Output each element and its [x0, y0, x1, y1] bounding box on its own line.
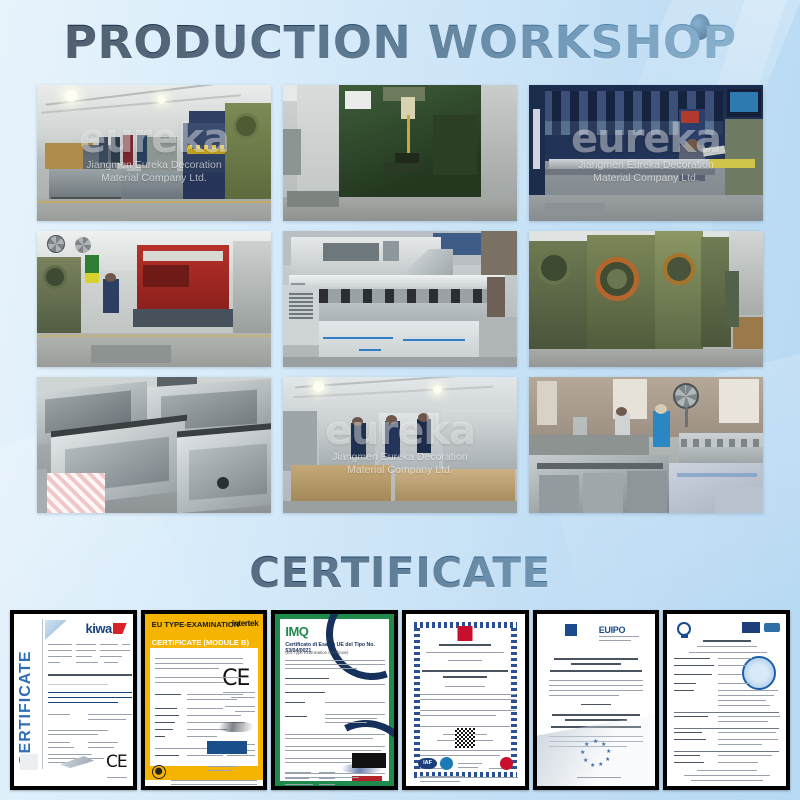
- accreditation-logo-2: [764, 623, 780, 632]
- page-title-production-workshop: PRODUCTION WORKSHOP: [0, 0, 800, 65]
- photo-red-bending-machine[interactable]: [37, 231, 271, 367]
- cert-heading-line-2: CERTIFICATE (MODULE B): [152, 638, 249, 647]
- photo-cnc-press-brake-operator[interactable]: eureka Jiangmen Eureka Decoration Materi…: [529, 85, 763, 221]
- photo-packing-assembly-area[interactable]: eureka Jiangmen Eureka Decoration Materi…: [283, 377, 517, 513]
- kiwa-logo: kiwa: [85, 621, 126, 636]
- photo-row-3: eureka Jiangmen Eureka Decoration Materi…: [37, 377, 763, 513]
- ce-mark-icon: CE: [222, 666, 249, 691]
- cert-subheading: (EU Type Examination Certificate): [285, 650, 348, 655]
- photo-press-machines-line[interactable]: eureka Jiangmen Eureka Decoration Materi…: [37, 85, 271, 221]
- accreditation-mark: [207, 741, 247, 754]
- eu-stars-icon: ★★★ ★★★ ★★★: [579, 738, 613, 766]
- cert-euipo-registration[interactable]: EUIPO ★★★ ★★★: [533, 610, 660, 790]
- photo-green-punch-press[interactable]: [283, 85, 517, 221]
- cnas-logo: [440, 757, 453, 770]
- ce-mark-icon: CE: [106, 752, 127, 772]
- euipo-logo: EUIPO: [599, 625, 626, 635]
- cert-heading-line-3: REGULATION (EU) 2016/426: [152, 648, 208, 653]
- accreditation-logo-1: [742, 622, 760, 633]
- photo-green-flywheel-press[interactable]: [529, 231, 763, 367]
- kiwa-decoration-icon: [45, 620, 67, 640]
- certificate-gallery: CERTIFICATE kiwa: [10, 610, 790, 790]
- cert-kiwa-eu-type-examination[interactable]: CERTIFICATE kiwa: [10, 610, 137, 790]
- cert-imq-esame-ue-tipo[interactable]: IMQ Certificato di Esame UE del Tipo No.…: [271, 610, 398, 790]
- cert-quality-management-system[interactable]: IAF: [402, 610, 529, 790]
- page-title-certificate: CERTIFICATE: [0, 546, 800, 594]
- certification-seal-icon: [500, 757, 513, 770]
- cert-test-report[interactable]: [663, 610, 790, 790]
- photo-stainless-sink-bowls[interactable]: [37, 377, 271, 513]
- euipo-emblem-icon: [565, 624, 577, 636]
- iso-seal-icon: ⬤: [152, 765, 166, 779]
- qr-code-icon: [455, 728, 475, 748]
- laboratory-seal-icon: [742, 656, 776, 690]
- photo-stainless-forming-machine[interactable]: [283, 231, 517, 367]
- cert-side-label: CERTIFICATE: [17, 638, 39, 766]
- cert-heading-line-1: EU TYPE-EXAMINATION: [152, 620, 240, 629]
- production-photo-grid: eureka Jiangmen Eureka Decoration Materi…: [37, 85, 763, 513]
- cert-intertek-module-b[interactable]: intertek EU TYPE-EXAMINATION CERTIFICATE…: [141, 610, 268, 790]
- imq-footer-mark: [352, 753, 386, 768]
- photo-row-1: eureka Jiangmen Eureka Decoration Materi…: [37, 85, 763, 221]
- photo-sink-welding-workshop[interactable]: [529, 377, 763, 513]
- photo-row-2: [37, 231, 763, 367]
- imq-logo: IMQ: [285, 624, 308, 639]
- iaf-logo: IAF: [418, 758, 437, 769]
- certification-body-logo: [458, 626, 473, 641]
